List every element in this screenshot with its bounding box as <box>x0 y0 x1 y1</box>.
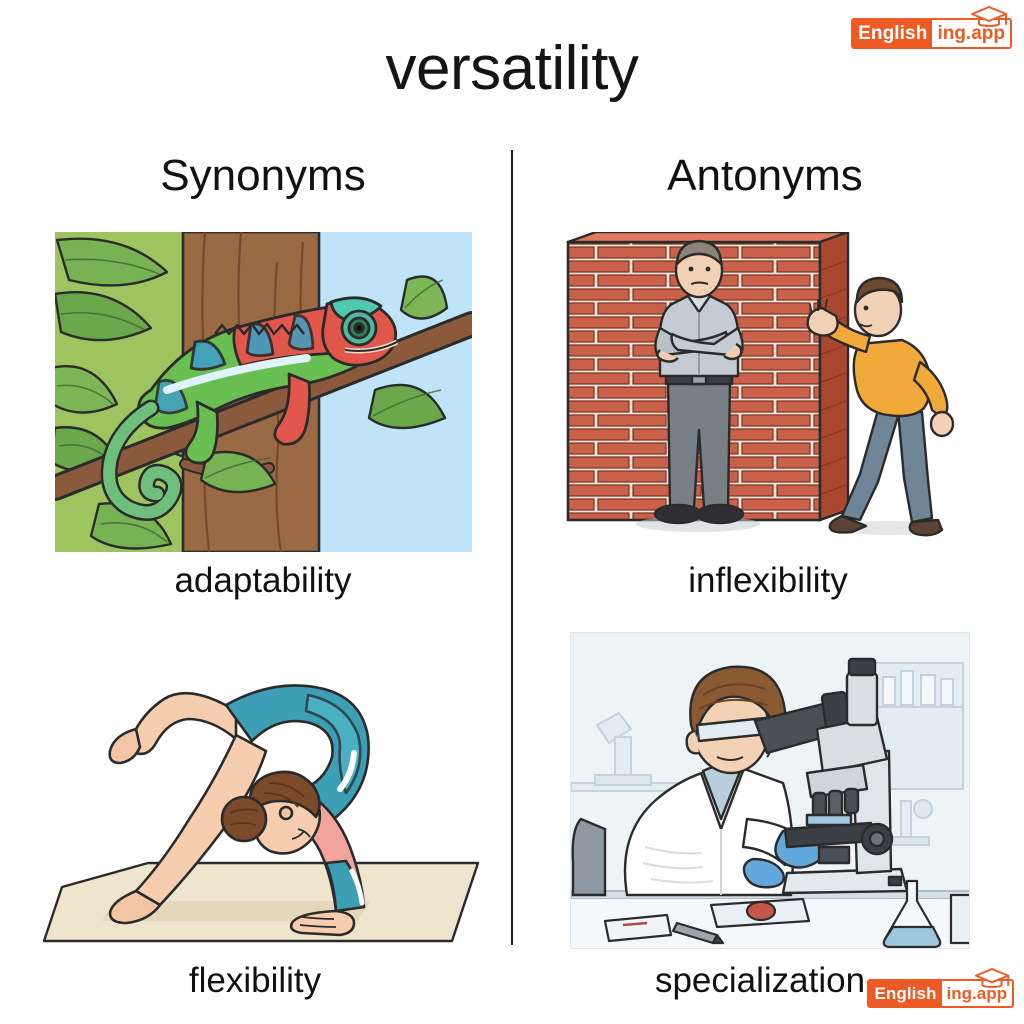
illustration-adaptability <box>55 232 472 552</box>
brand-logo-bottom[interactable]: English ing.app <box>867 979 1014 1008</box>
illustration-flexibility <box>40 625 480 947</box>
column-header-antonyms: Antonyms <box>550 152 980 200</box>
brand-logo-top[interactable]: English ing.app <box>851 18 1012 49</box>
column-divider <box>511 150 513 945</box>
caption-flexibility: flexibility <box>25 962 485 1001</box>
illustration-inflexibility <box>560 232 972 552</box>
graduation-cap-icon <box>972 966 1012 991</box>
vocabulary-infographic: versatility English ing.app Synonyms Ant… <box>0 0 1024 1024</box>
column-header-synonyms: Synonyms <box>48 152 478 200</box>
caption-adaptability: adaptability <box>33 562 493 601</box>
brand-name-part-a: English <box>869 981 941 1006</box>
brand-name-part-a: English <box>853 20 932 47</box>
caption-inflexibility: inflexibility <box>538 562 998 601</box>
illustration-specialization <box>570 632 970 949</box>
graduation-cap-icon <box>968 4 1010 30</box>
